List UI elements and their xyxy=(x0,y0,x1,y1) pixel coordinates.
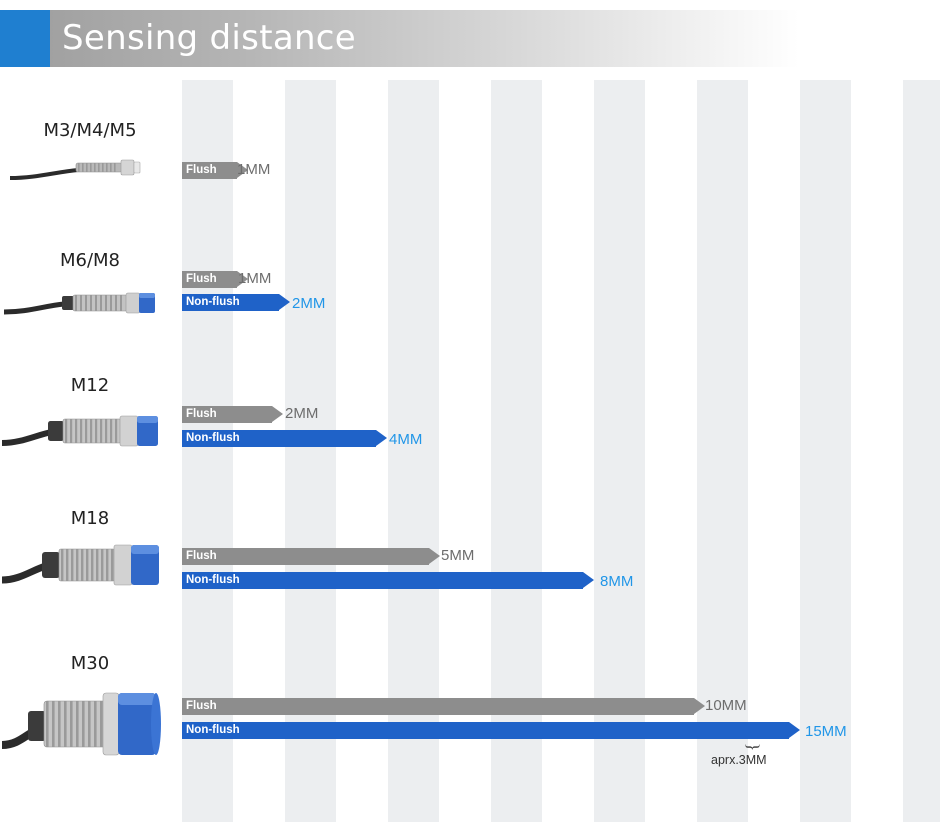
break-note: aprx.3MM xyxy=(711,753,767,767)
bar-value-nonflush-m18: 8MM xyxy=(600,573,633,590)
sensor-image-m6-m8 xyxy=(2,280,180,325)
bar-value-flush-m18: 5MM xyxy=(441,547,474,564)
bar-value-flush-m3-m4-m5: 1MM xyxy=(237,161,270,178)
bar-tag-flush: Flush xyxy=(186,272,217,287)
bar-flush-m18: Flush xyxy=(182,548,440,565)
sensor-image-m12 xyxy=(0,405,180,457)
break-symbol: { xyxy=(742,743,762,751)
row-label-m12: M12 xyxy=(0,375,180,396)
bar-nonflush-m30: Non-flush xyxy=(182,722,800,739)
bar-tag-flush: Flush xyxy=(186,699,217,714)
row-m30: M30 Flush 10MM Non-f xyxy=(0,645,940,795)
bar-value-flush-m12: 2MM xyxy=(285,405,318,422)
bar-value-flush-m30: 10MM xyxy=(705,697,747,714)
bar-flush-m30: Flush xyxy=(182,698,705,715)
row-label-m3-m4-m5: M3/M4/M5 xyxy=(0,120,180,141)
row-label-m30: M30 xyxy=(0,653,180,674)
page-title: Sensing distance xyxy=(62,18,356,58)
bar-tag-flush: Flush xyxy=(186,549,217,564)
sensor-image-m3-m4-m5 xyxy=(8,150,178,190)
row-label-m18: M18 xyxy=(0,508,180,529)
row-label-m6-m8: M6/M8 xyxy=(0,250,180,271)
bar-tag-nonflush: Non-flush xyxy=(186,573,240,588)
bar-value-flush-m6-m8: 1MM xyxy=(238,270,271,287)
bar-tag-nonflush: Non-flush xyxy=(186,431,240,446)
row-m12: M12 Flush 2MM Non- xyxy=(0,370,940,480)
row-m3-m4-m5: M3/M4/M5 Flush 1MM xyxy=(0,110,940,210)
bar-tag-flush: Flush xyxy=(186,163,217,178)
bar-tag-nonflush: Non-flush xyxy=(186,723,240,738)
bar-value-nonflush-m6-m8: 2MM xyxy=(292,295,325,312)
row-m6-m8: M6/M8 Flush 1MM Non-flush xyxy=(0,245,940,355)
bar-value-nonflush-m12: 4MM xyxy=(389,431,422,448)
bar-flush-m12: Flush xyxy=(182,406,283,423)
row-m18: M18 Flush 5MM Non- xyxy=(0,500,940,620)
bar-tag-nonflush: Non-flush xyxy=(186,295,240,310)
bar-tag-flush: Flush xyxy=(186,407,217,422)
bar-value-nonflush-m30: 15MM xyxy=(805,723,847,740)
sensor-image-m30 xyxy=(0,683,180,763)
header-accent-block xyxy=(0,10,50,67)
bar-nonflush-m12: Non-flush xyxy=(182,430,387,447)
bar-nonflush-m6-m8: Non-flush xyxy=(182,294,290,311)
sensor-image-m18 xyxy=(0,536,180,596)
bar-nonflush-m18: Non-flush xyxy=(182,572,594,589)
sensing-distance-infographic: Sensing distance M3/M4/M5 Flush 1MM M6/M… xyxy=(0,0,940,822)
